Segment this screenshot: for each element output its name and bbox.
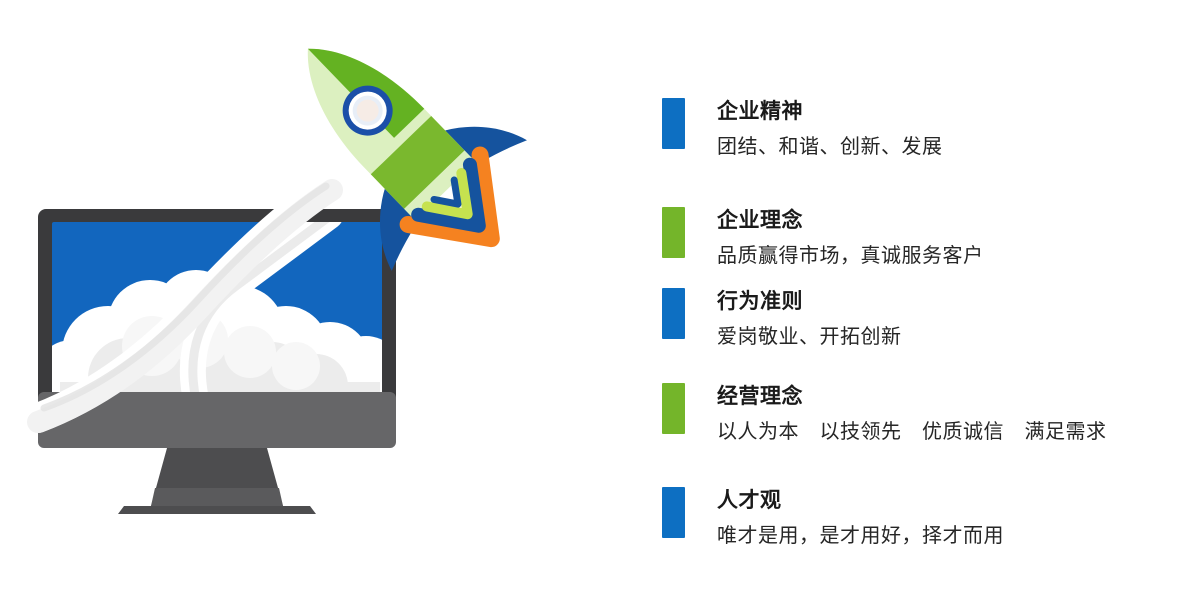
value-body: 唯才是用，是才用好，择才而用 bbox=[717, 521, 1195, 551]
corporate-values-list: 企业精神 团结、和谐、创新、发展 企业理念 品质赢得市场，真诚服务客户 行为准则… bbox=[655, 0, 1197, 606]
rocket-monitor-illustration bbox=[0, 0, 620, 606]
value-marker-green bbox=[662, 207, 685, 258]
value-text-block: 人才观 唯才是用，是才用好，择才而用 bbox=[717, 487, 1195, 551]
value-title: 行为准则 bbox=[717, 288, 1195, 316]
value-text-block: 行为准则 爱岗敬业、开拓创新 bbox=[717, 288, 1195, 352]
value-text-block: 企业理念 品质赢得市场，真诚服务客户 bbox=[717, 207, 1195, 271]
monitor-base bbox=[118, 506, 316, 514]
value-body: 以人为本 以技领先 优质诚信 满足需求 bbox=[717, 417, 1195, 447]
value-body: 爱岗敬业、开拓创新 bbox=[717, 322, 1195, 352]
value-body: 品质赢得市场，真诚服务客户 bbox=[717, 241, 1195, 271]
value-text-block: 企业精神 团结、和谐、创新、发展 bbox=[717, 98, 1195, 162]
value-body: 团结、和谐、创新、发展 bbox=[717, 132, 1195, 162]
value-marker-green bbox=[662, 383, 685, 434]
value-title: 人才观 bbox=[717, 487, 1195, 515]
value-title: 企业理念 bbox=[717, 207, 1195, 235]
value-marker-blue bbox=[662, 98, 685, 149]
value-text-block: 经营理念 以人为本 以技领先 优质诚信 满足需求 bbox=[717, 383, 1195, 447]
value-marker-blue bbox=[662, 487, 685, 538]
value-title: 企业精神 bbox=[717, 98, 1195, 126]
value-marker-blue bbox=[662, 288, 685, 339]
slide-canvas: 企业精神 团结、和谐、创新、发展 企业理念 品质赢得市场，真诚服务客户 行为准则… bbox=[0, 0, 1197, 606]
value-title: 经营理念 bbox=[717, 383, 1195, 411]
desktop-monitor bbox=[34, 209, 402, 514]
